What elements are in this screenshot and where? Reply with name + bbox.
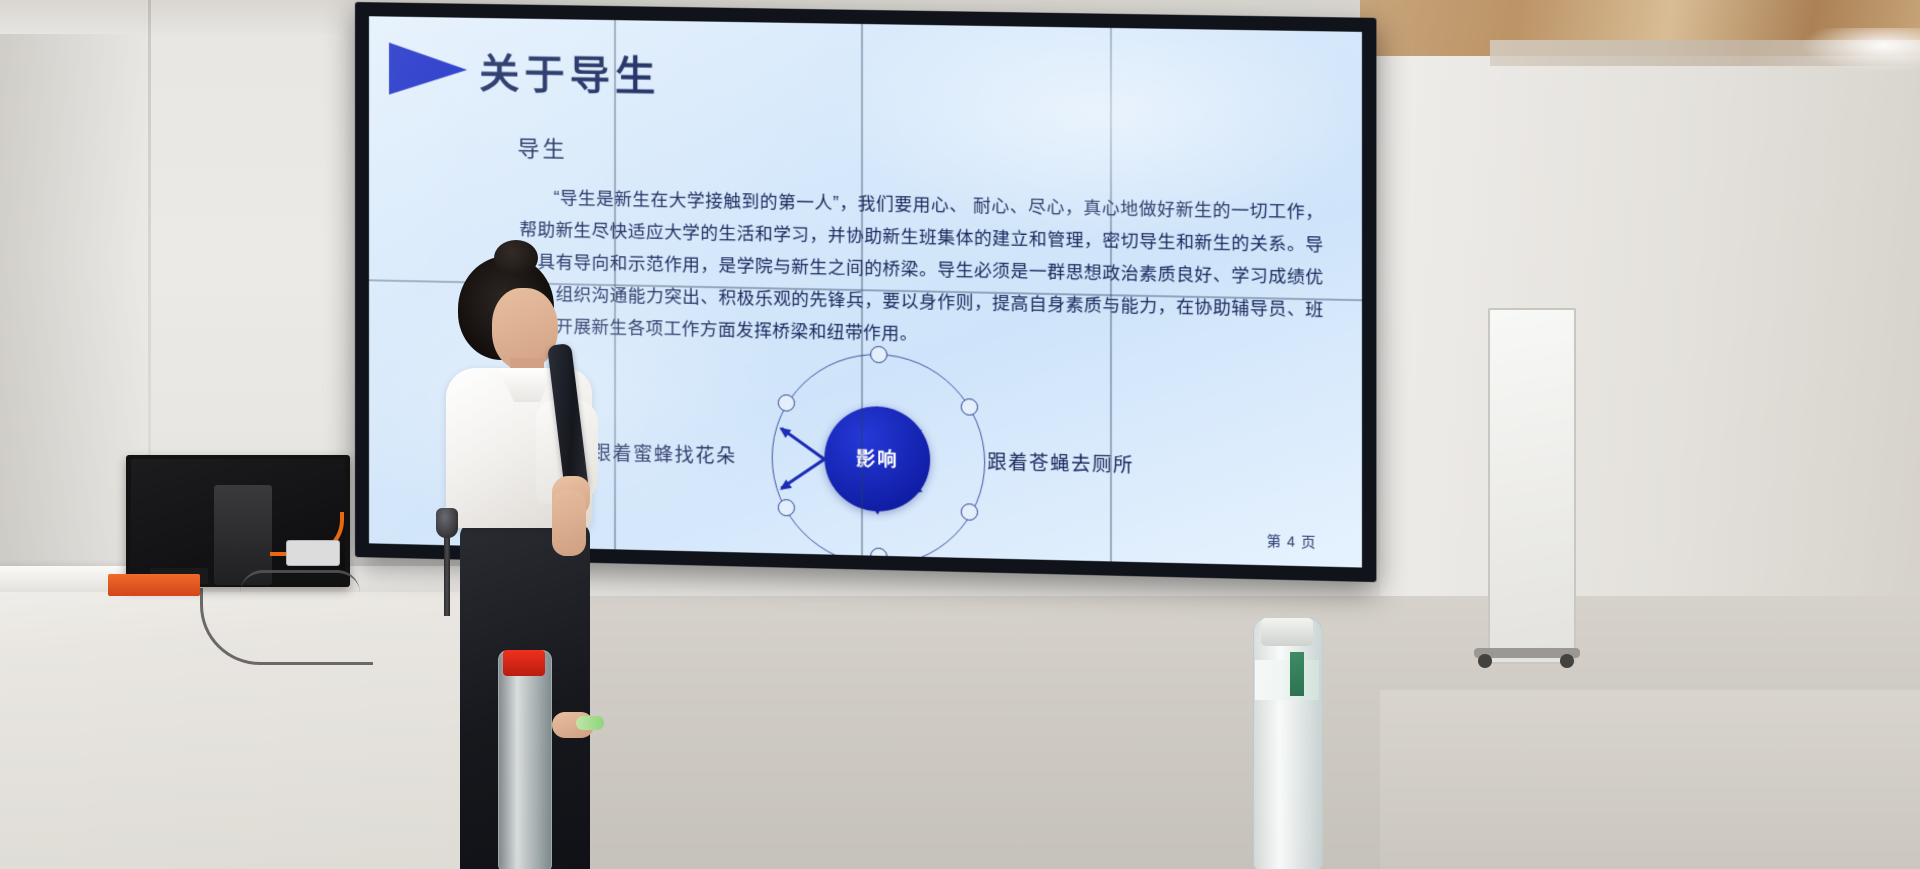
water-bottle-right-cap	[1261, 618, 1313, 646]
cable-floor	[200, 588, 373, 665]
water-bottle-right-stripe	[1290, 652, 1304, 696]
water-bottle-left-cap	[503, 650, 545, 676]
lecture-hall-scene: 关于导生 导生 “导生是新生在大学接触到的第一人”，我们要用心、 耐心、尽心，真…	[0, 0, 1920, 869]
triangle-accent-icon	[389, 43, 467, 96]
slide-subtitle: 导生	[517, 131, 567, 164]
microphone-stand-pole	[444, 530, 450, 616]
diagram-node-bottom-left	[778, 499, 795, 517]
slide-title: 关于导生	[479, 54, 660, 97]
monitor-base	[108, 574, 200, 596]
presenter-hair-bun	[494, 240, 538, 276]
presenter-held-object	[576, 716, 604, 730]
usb-dongle	[286, 540, 340, 566]
microphone-stand-head	[436, 508, 458, 538]
diagram-node-bottom	[870, 547, 887, 565]
diagram-node-top-left	[778, 394, 795, 411]
whiteboard-wheel-left	[1478, 654, 1492, 668]
water-bottle-right	[1253, 618, 1323, 869]
diagram-node-top-right	[961, 398, 978, 416]
ceiling-light-glare	[1800, 28, 1920, 72]
whiteboard-wheel-right	[1560, 654, 1574, 668]
diagram-node-top	[870, 346, 887, 364]
diagram-hub-label: 影响	[824, 444, 930, 474]
right-counter	[1380, 690, 1920, 869]
diagram-label-right: 跟着苍蝇去厕所	[987, 447, 1134, 478]
diagram-node-bottom-right	[961, 503, 978, 521]
grey-cable	[240, 570, 360, 593]
presenter-forearm	[552, 490, 586, 556]
right-wall	[1380, 0, 1920, 700]
slide-body-text: “导生是新生在大学接触到的第一人”，我们要用心、 耐心、尽心，真心地做好新生的一…	[519, 181, 1323, 358]
whiteboard	[1488, 308, 1576, 664]
water-bottle-left	[498, 650, 552, 869]
slide-page-number: 第 4 页	[1266, 531, 1316, 553]
water-bottle-right-label	[1255, 660, 1319, 700]
